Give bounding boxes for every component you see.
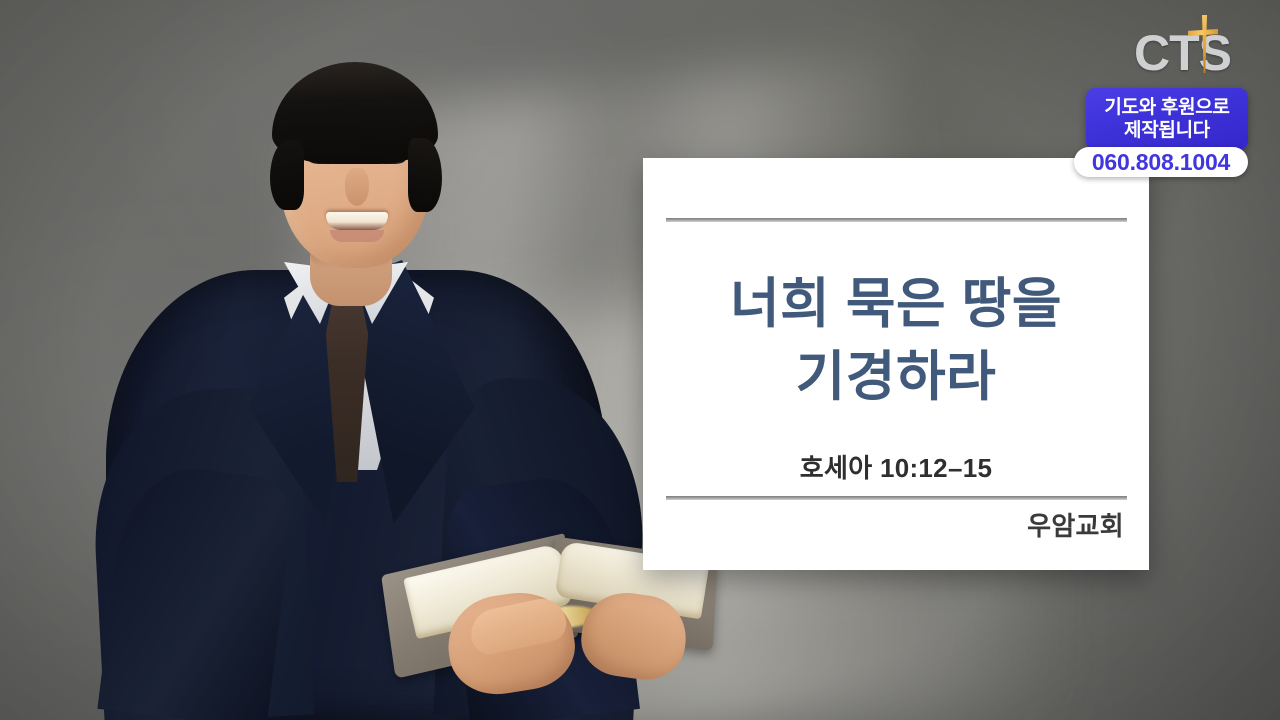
cts-logo: CTS (1134, 24, 1248, 82)
mouth-smiling (326, 212, 388, 230)
broadcast-frame: 너희 묵은 땅을 기경하라 호세아 10:12–15 우암교회 CTS 기도와 … (0, 0, 1280, 720)
donation-banner[interactable]: 기도와 후원으로 제작됩니다 (1086, 88, 1248, 150)
cross-horizontal-bar (1188, 29, 1218, 36)
donation-banner-line-2: 제작됩니다 (1124, 120, 1210, 141)
preacher-portrait (88, 30, 648, 720)
lower-lip (330, 230, 384, 242)
cross-icon (1188, 15, 1218, 73)
sermon-title-line-2: 기경하라 (643, 341, 1149, 414)
church-name: 우암교회 (1027, 506, 1124, 543)
donation-phone-pill[interactable]: 060.808.1004 (1074, 147, 1248, 177)
scripture-reference: 호세아 10:12–15 (643, 448, 1149, 485)
sermon-title-card: 너희 묵은 땅을 기경하라 호세아 10:12–15 우암교회 (643, 158, 1149, 570)
sermon-title-line-1: 너희 묵은 땅을 (643, 268, 1149, 341)
divider-bottom (666, 496, 1127, 500)
cross-vertical-bar (1201, 15, 1208, 73)
nose (345, 168, 369, 206)
donation-phone-number: 060.808.1004 (1092, 151, 1230, 174)
hair-side-right (408, 138, 442, 212)
donation-banner-line-1: 기도와 후원으로 (1104, 97, 1229, 118)
hair-side-left (270, 140, 304, 210)
divider-top (666, 218, 1127, 222)
sermon-title: 너희 묵은 땅을 기경하라 (643, 268, 1149, 415)
